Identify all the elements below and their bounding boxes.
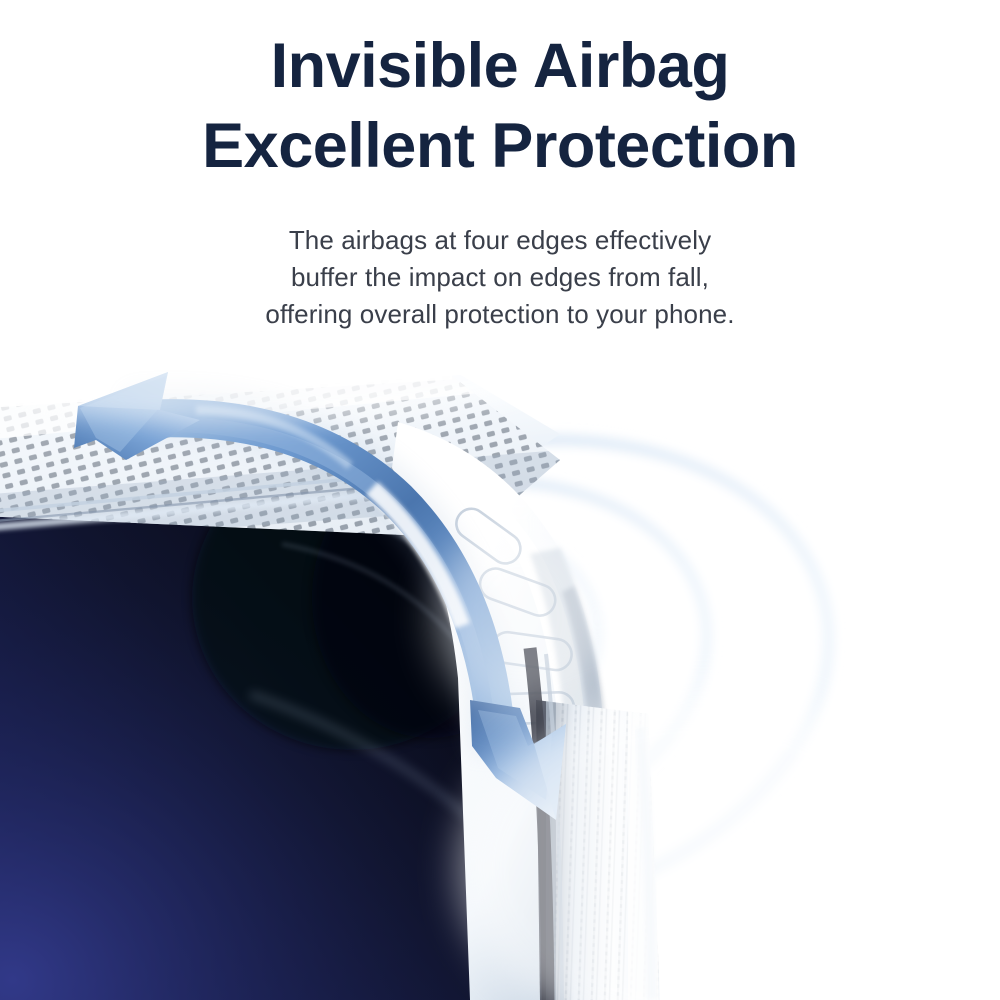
page-title: Invisible Airbag Excellent Protection — [0, 26, 1000, 186]
product-illustration — [0, 348, 1000, 1000]
description-text: The airbags at four edges effectively bu… — [0, 222, 1000, 333]
description-line-1: The airbags at four edges effectively — [0, 222, 1000, 259]
product-photo — [0, 348, 1000, 1000]
description-line-2: buffer the impact on edges from fall, — [0, 259, 1000, 296]
headline-line-1: Invisible Airbag — [0, 26, 1000, 106]
description-line-3: offering overall protection to your phon… — [0, 296, 1000, 333]
headline-line-2: Excellent Protection — [0, 106, 1000, 186]
